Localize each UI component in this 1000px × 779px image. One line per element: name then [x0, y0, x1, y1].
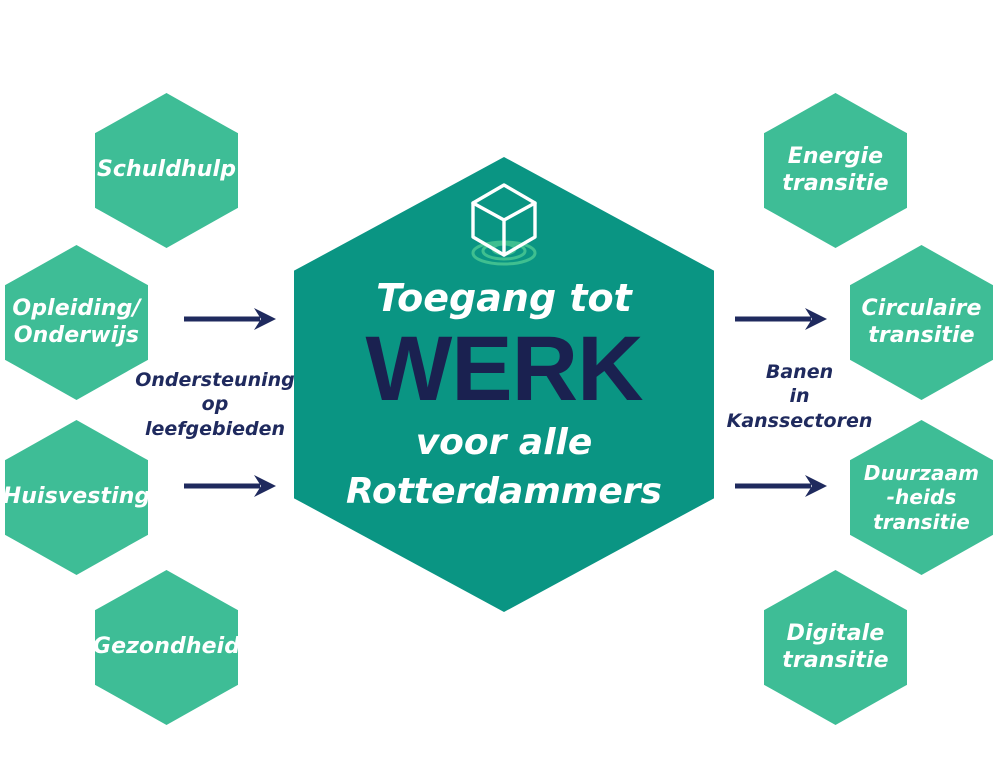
hexagon-label: Huisvesting: [0, 484, 158, 511]
center-line-werk: WERK: [365, 323, 642, 415]
arrow-left-top: [182, 302, 282, 336]
hexagon-label: Schuldhulp: [89, 157, 244, 184]
cube-icon: [449, 179, 559, 271]
hexagon-label: Opleiding/ Onderwijs: [4, 296, 148, 350]
hexagon-schuldhulp[interactable]: Schuldhulp: [95, 93, 238, 248]
center-line-toegang: Toegang tot: [376, 279, 632, 319]
diagram-canvas: Schuldhulp Opleiding/ Onderwijs Huisvest…: [0, 0, 1000, 779]
hexagon-energie-transitie[interactable]: Energie transitie: [764, 93, 907, 248]
hexagon-label: Gezondheid: [85, 634, 248, 661]
flow-label-ondersteuning: Ondersteuning op leefgebieden: [135, 368, 295, 441]
hexagon-gezondheid[interactable]: Gezondheid: [95, 570, 238, 725]
center-line-voor-alle: voor alle: [416, 423, 593, 463]
hexagon-label: Circulaire transitie: [854, 296, 990, 350]
center-hexagon[interactable]: Toegang tot WERK voor alle Rotterdammers: [294, 157, 714, 612]
arrow-right-bottom: [733, 469, 833, 503]
hexagon-digitale-transitie[interactable]: Digitale transitie: [764, 570, 907, 725]
arrow-left-bottom: [182, 469, 282, 503]
center-line-rotterdammers: Rotterdammers: [346, 472, 662, 512]
arrow-right-top: [733, 302, 833, 336]
hexagon-label: Energie transitie: [774, 144, 896, 198]
hexagon-label: Duurzaam -heids transitie: [856, 461, 987, 534]
hexagon-opleiding-onderwijs[interactable]: Opleiding/ Onderwijs: [5, 245, 148, 400]
hexagon-huisvesting[interactable]: Huisvesting: [5, 420, 148, 575]
hexagon-label: Digitale transitie: [774, 621, 896, 675]
hexagon-duurzaamheids-transitie[interactable]: Duurzaam -heids transitie: [850, 420, 993, 575]
flow-label-banen: Banen in Kanssectoren: [722, 360, 877, 433]
